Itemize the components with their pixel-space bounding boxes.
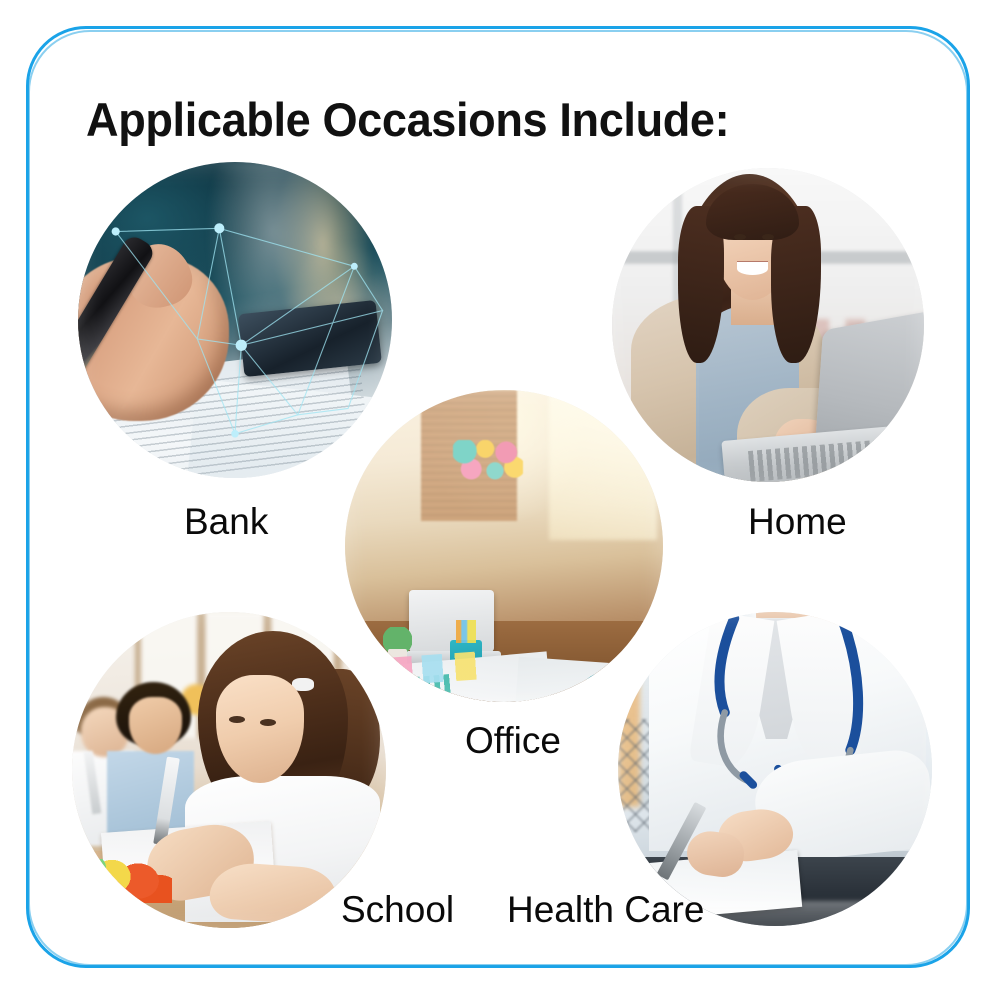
bank-label: Bank [184,503,268,540]
home-label: Home [748,503,847,540]
infographic-banner: Applicable Occasions Include: [0,0,1000,1000]
school-photo [72,612,386,928]
health-care-label: Health Care [507,891,704,928]
health-care-photo [618,612,932,926]
office-photo [345,390,663,702]
office-label: Office [465,722,561,759]
school-label: School [341,891,454,928]
page-title: Applicable Occasions Include: [86,96,729,143]
